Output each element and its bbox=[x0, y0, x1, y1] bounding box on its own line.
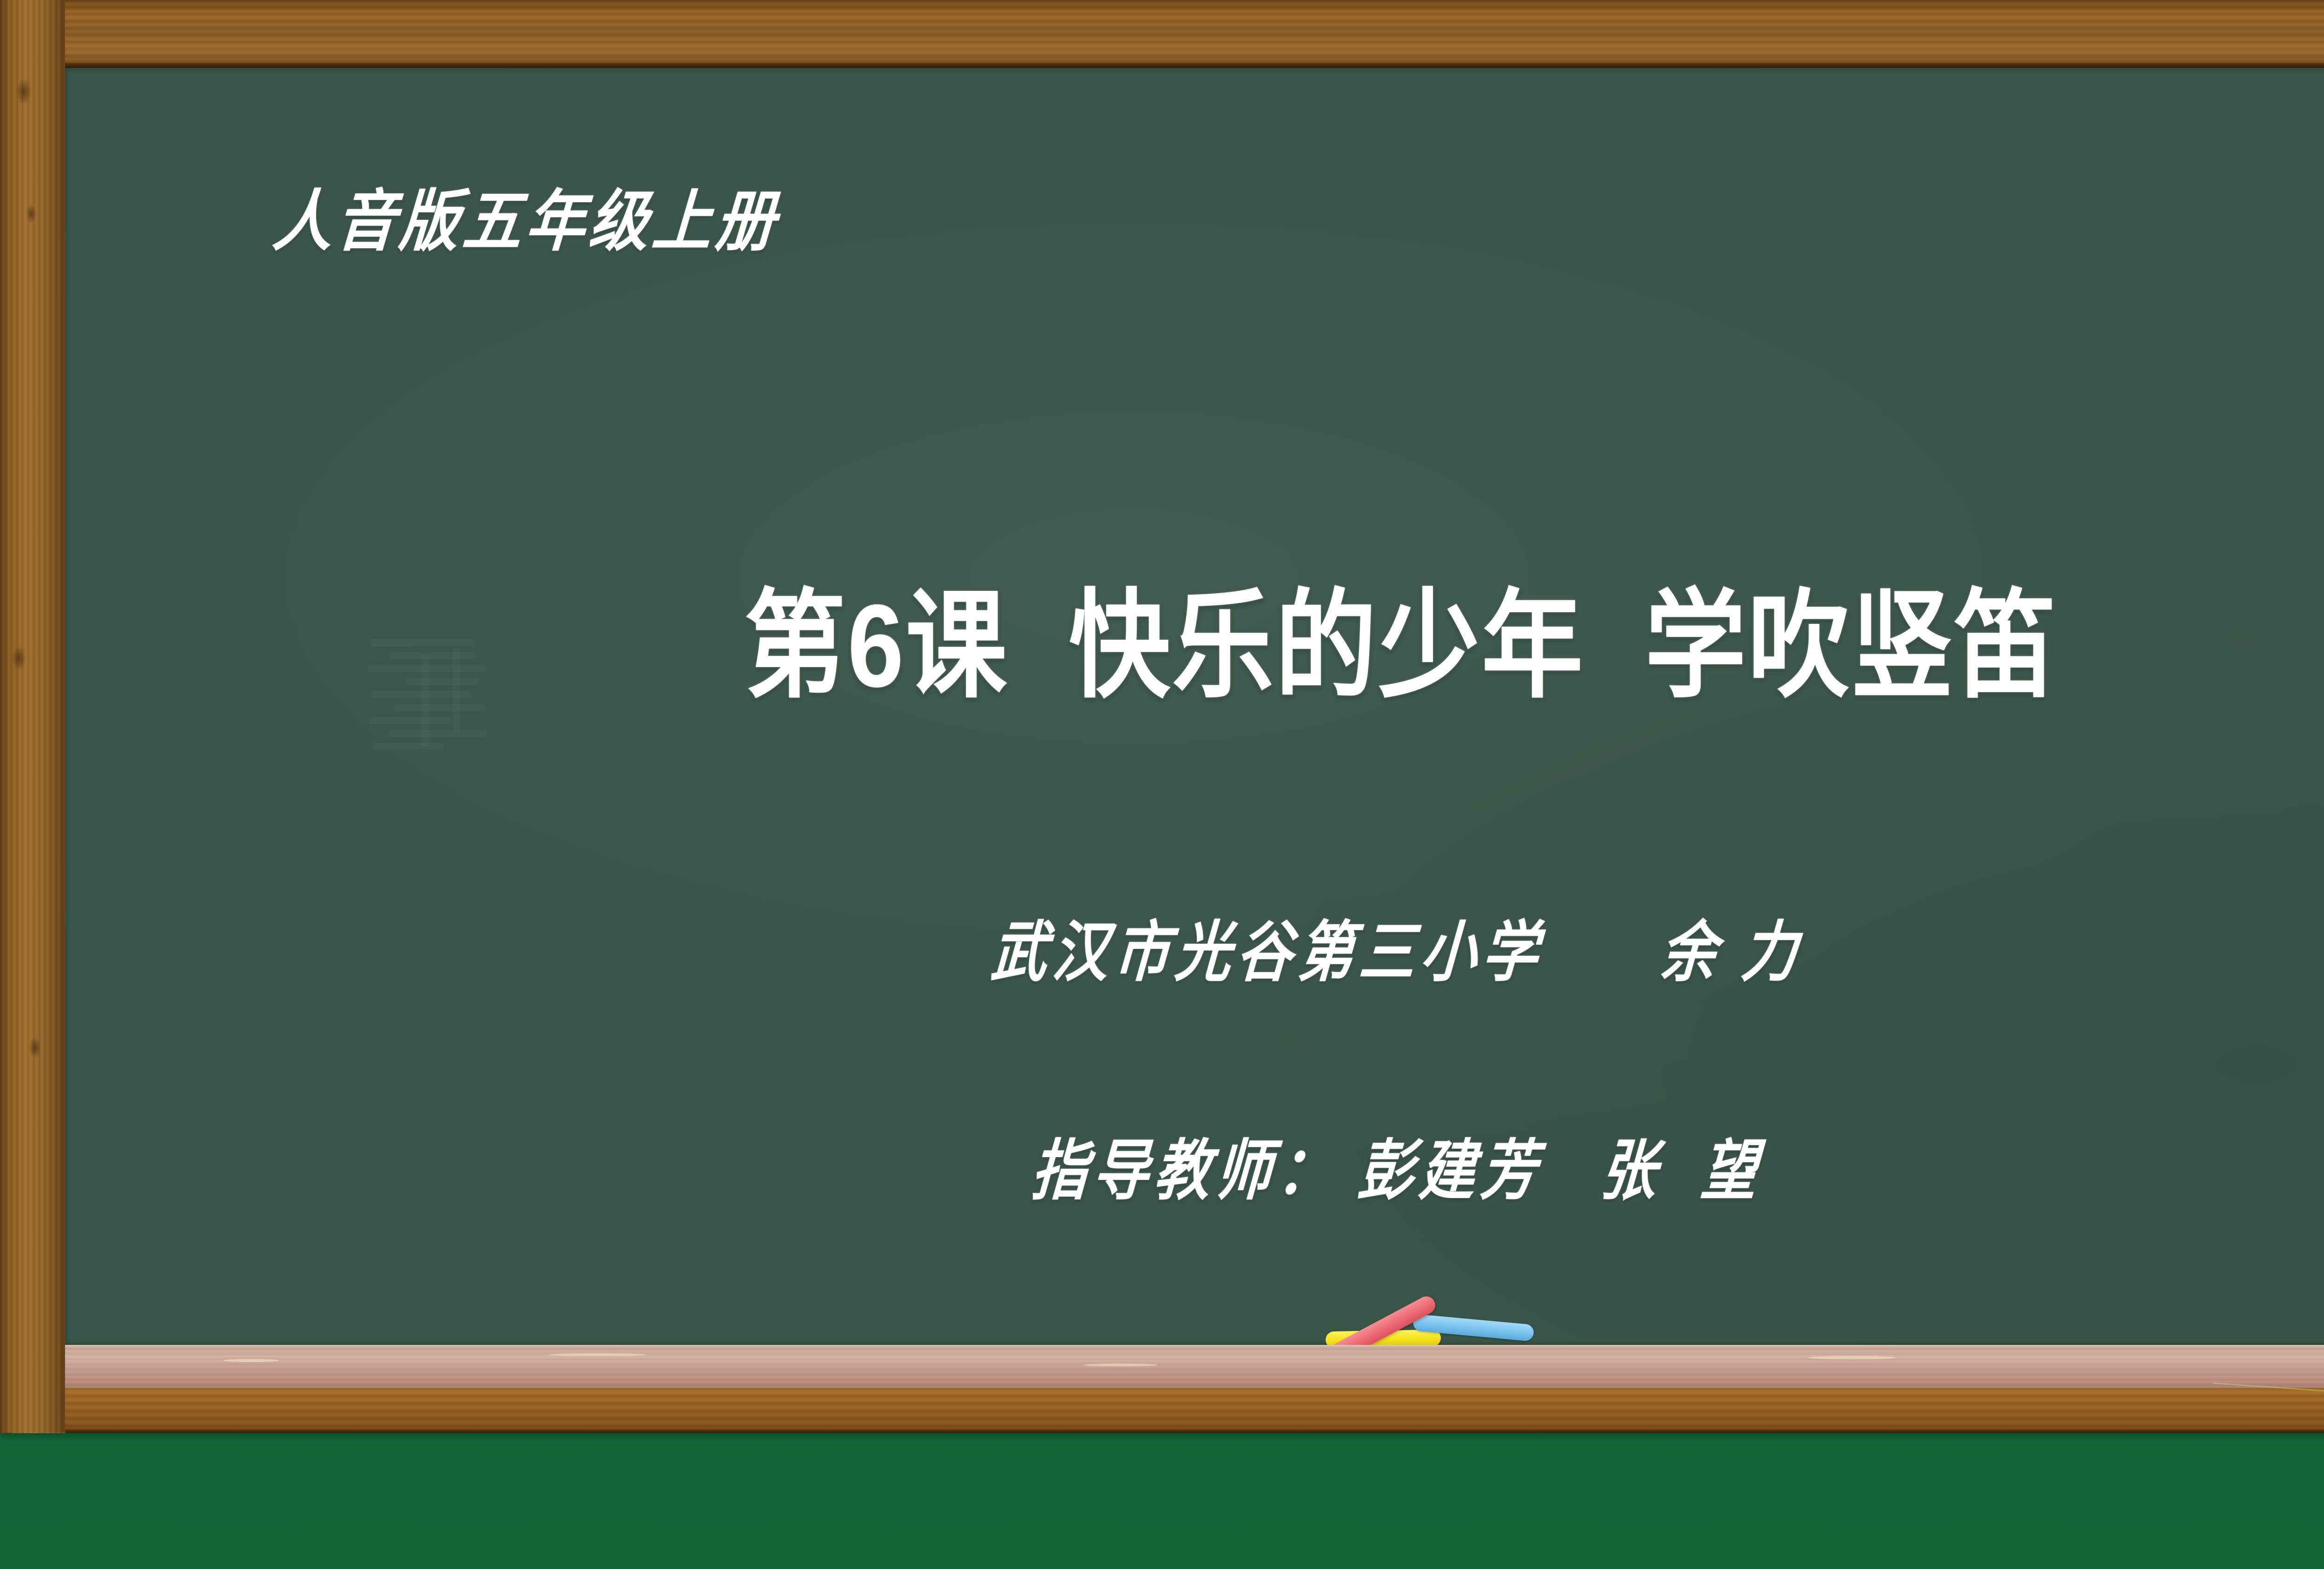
frame-rail-top bbox=[0, 0, 2324, 68]
wooden-frame bbox=[0, 0, 2324, 1432]
blackboard-slide: 人音版五年级上册 第6课 快乐的少年 学吹竖笛 武汉市光谷第三小学 余 力 指导… bbox=[0, 0, 2324, 1569]
frame-post-left bbox=[0, 0, 65, 1432]
